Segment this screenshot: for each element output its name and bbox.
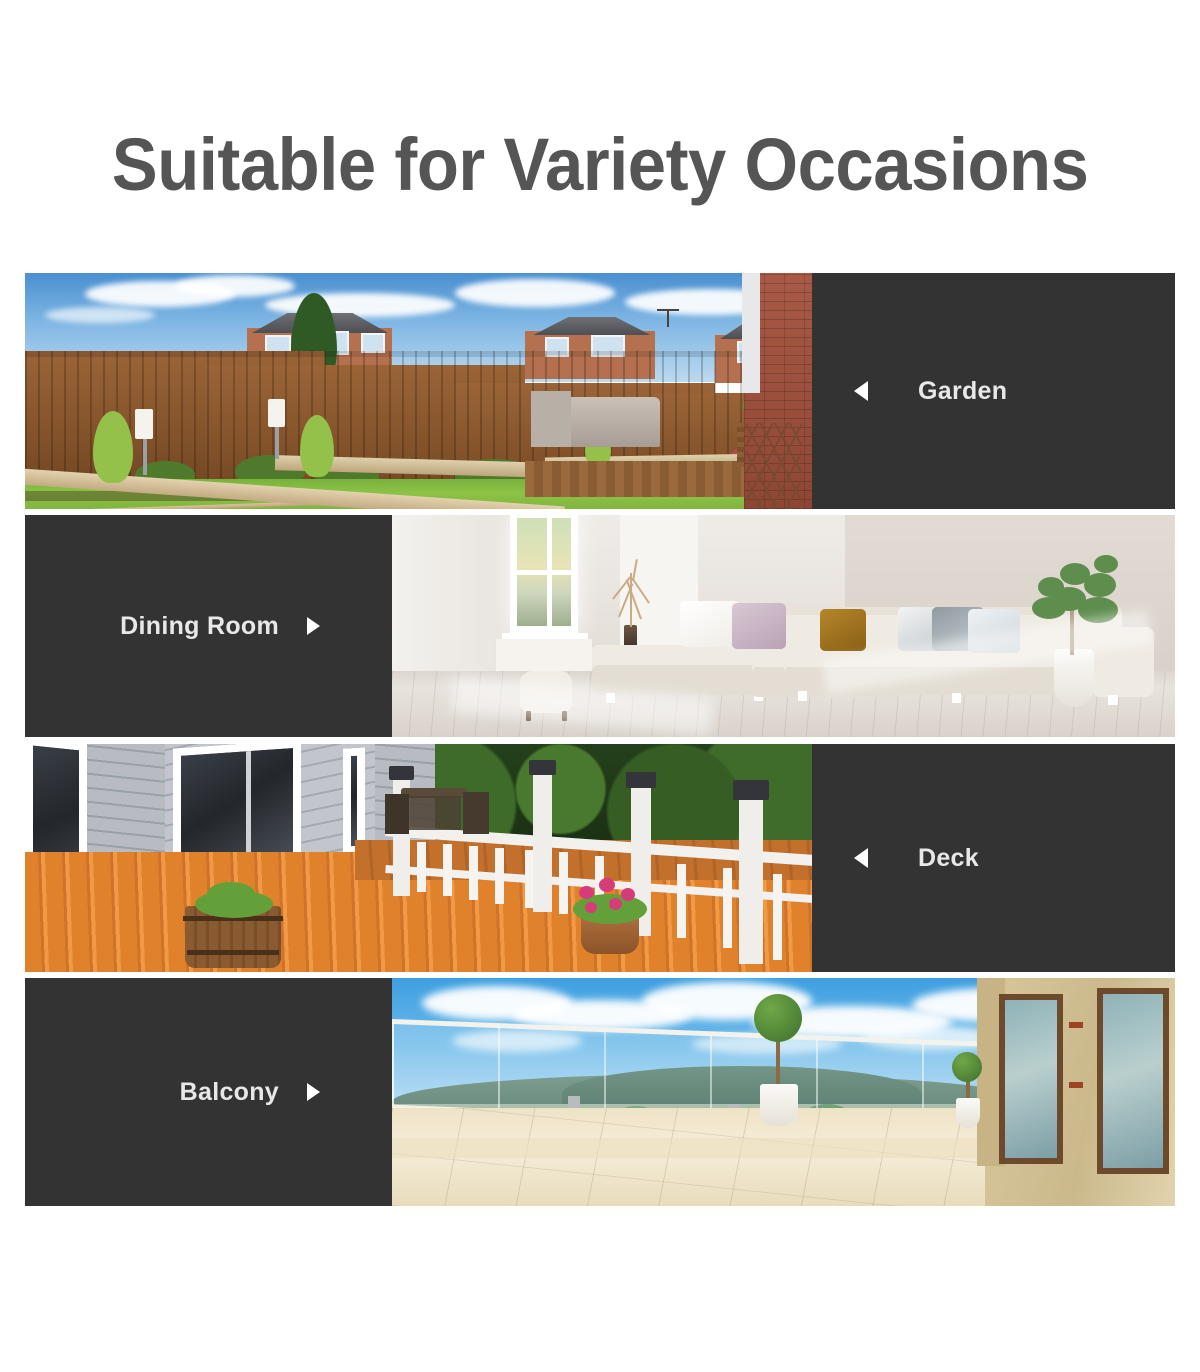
occasion-label-garden: Garden: [918, 377, 1007, 406]
photo-deck: [25, 744, 812, 972]
label-panel-dining-room[interactable]: Dining Room: [25, 515, 392, 737]
photo-balcony: [392, 978, 1175, 1206]
left-triangle-icon: [854, 381, 868, 401]
occasion-row-deck: Deck: [25, 744, 1175, 972]
occasion-row-garden: Garden: [25, 273, 1175, 509]
right-triangle-icon: [307, 617, 320, 635]
left-triangle-icon: [854, 848, 868, 868]
photo-dining-room: [392, 515, 1175, 737]
label-panel-deck[interactable]: Deck: [812, 744, 1175, 972]
page-title: Suitable for Variety Occasions: [112, 128, 1089, 202]
occasion-label-dining-room: Dining Room: [120, 612, 279, 641]
right-triangle-icon: [307, 1083, 320, 1101]
label-panel-garden[interactable]: Garden: [812, 273, 1175, 509]
page-title-wrap: Suitable for Variety Occasions: [0, 128, 1200, 202]
label-panel-balcony[interactable]: Balcony: [25, 978, 392, 1206]
occasion-label-balcony: Balcony: [180, 1078, 279, 1107]
occasion-row-balcony: Balcony: [25, 978, 1175, 1206]
marketing-panel: Suitable for Variety Occasions: [0, 0, 1200, 1372]
occasion-label-deck: Deck: [918, 844, 979, 873]
photo-garden: [25, 273, 812, 509]
occasion-rows: Garden Dining Room: [25, 273, 1175, 1206]
occasion-row-dining-room: Dining Room: [25, 515, 1175, 737]
